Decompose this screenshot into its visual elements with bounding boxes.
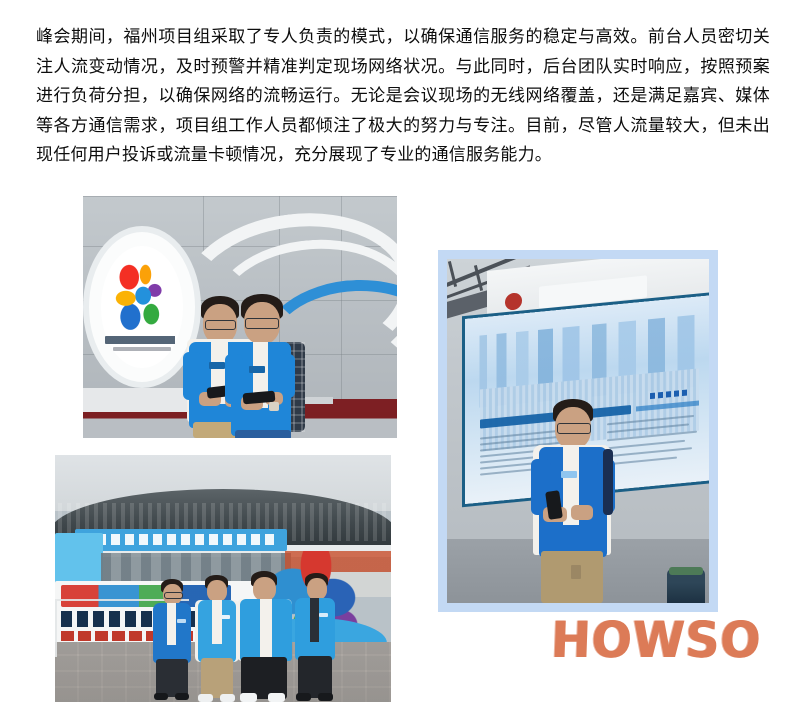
howso-watermark: HOWSO bbox=[550, 611, 762, 669]
trash-bin-lid bbox=[669, 567, 703, 575]
article-page: 峰会期间，福州项目组采取了专人负责的模式，以确保通信服务的稳定与高效。前台人员密… bbox=[0, 0, 805, 717]
photo-team-at-venue bbox=[55, 455, 391, 702]
photo2-scene bbox=[447, 259, 709, 603]
summit-calligraphy-logo bbox=[113, 264, 171, 330]
wristwatch bbox=[269, 402, 279, 411]
article-paragraph: 峰会期间，福州项目组采取了专人负责的模式，以确保通信服务的稳定与高效。前台人员密… bbox=[36, 23, 770, 171]
summit-logo-text bbox=[105, 336, 181, 344]
summit-logo-disc bbox=[89, 232, 195, 382]
venue-banner bbox=[75, 529, 287, 551]
backpack-strap bbox=[603, 449, 613, 515]
photo3-scene bbox=[55, 455, 391, 702]
photo1-scene bbox=[83, 196, 397, 438]
photo-engineer-at-exhibition-screen bbox=[447, 259, 709, 603]
vest-logo-center bbox=[561, 471, 577, 478]
venue-banner-text bbox=[83, 534, 279, 545]
photo-engineer-at-exhibition-screen-frame bbox=[438, 250, 718, 612]
photo-engineers-at-backdrop bbox=[83, 196, 397, 438]
summit-logo-subtext bbox=[113, 347, 171, 351]
vest-logo-right bbox=[249, 366, 265, 373]
vest-logo-left bbox=[209, 362, 225, 369]
